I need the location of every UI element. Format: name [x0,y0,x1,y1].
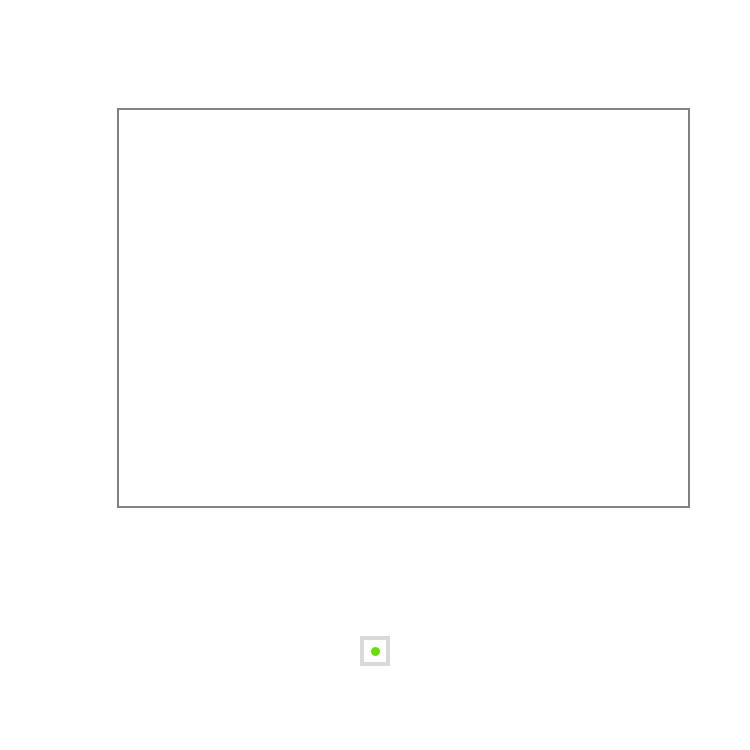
legend-marker-icon [371,647,380,656]
loess-trend-line [119,110,688,506]
conservation-scatter-plot [0,0,750,750]
confidence-band [119,110,688,506]
plot-panel [117,108,690,508]
zero-reference-line [119,110,688,506]
legend-key-mature[interactable] [360,636,390,666]
legend [0,636,750,666]
